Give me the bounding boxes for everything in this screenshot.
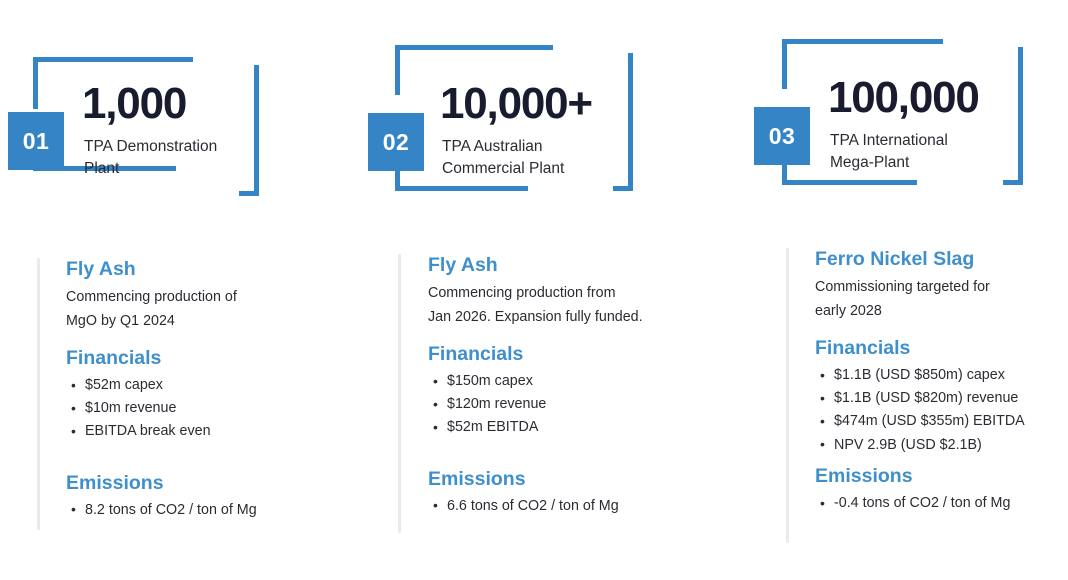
spacer (815, 457, 1068, 465)
bracket-top-3 (782, 39, 943, 44)
detail-column-2: Fly Ash Commencing production from Jan 2… (398, 254, 768, 539)
list-item: $1.1B (USD $820m) revenue (815, 387, 1068, 410)
list-item: 8.2 tons of CO2 / ton of Mg (66, 499, 396, 522)
spacer (428, 329, 768, 343)
emissions-list-3: -0.4 tons of CO2 / ton of Mg (815, 492, 1068, 515)
milestone-badge-1: 01 (8, 112, 64, 170)
list-item: $474m (USD $355m) EBITDA (815, 410, 1068, 433)
milestone-badge-3: 03 (754, 107, 810, 165)
milestone-number-2: 10,000+ (440, 82, 592, 126)
feedstock-title-1: Fly Ash (66, 258, 396, 281)
milestone-number-3: 100,000 (828, 76, 979, 120)
emissions-list-1: 8.2 tons of CO2 / ton of Mg (66, 499, 396, 522)
detail-column-3: Ferro Nickel Slag Commissioning targeted… (786, 248, 1068, 548)
bracket-top-1 (33, 57, 193, 62)
bracket-left-lower-2 (395, 170, 400, 191)
milestone-subtitle-1: TPA Demonstration Plant (84, 136, 284, 180)
column-divider-1 (37, 258, 40, 530)
detail-column-1: Fly Ash Commencing production of MgO by … (37, 258, 397, 538)
list-item: NPV 2.9B (USD $2.1B) (815, 434, 1068, 457)
spacer (66, 444, 396, 472)
list-item: $52m EBITDA (428, 416, 768, 439)
list-item: $10m revenue (66, 397, 396, 420)
bracket-top-2 (395, 45, 553, 50)
list-item: 6.6 tons of CO2 / ton of Mg (428, 495, 768, 518)
list-item: -0.4 tons of CO2 / ton of Mg (815, 492, 1068, 515)
milestone-card-3: 03 100,000 TPA International Mega-Plant (745, 28, 1055, 198)
bracket-bottom-right-1 (239, 191, 259, 196)
list-item: $52m capex (66, 374, 396, 397)
feedstock-text-3: Commissioning targeted for early 2028 (815, 276, 1068, 322)
bracket-bottom-left-3 (782, 180, 917, 185)
bracket-left-1 (33, 57, 38, 109)
column-divider-2 (398, 254, 401, 533)
milestone-subtitle-2: TPA Australian Commercial Plant (442, 136, 657, 180)
feedstock-title-2: Fly Ash (428, 254, 768, 277)
financials-list-3: $1.1B (USD $850m) capex $1.1B (USD $820m… (815, 364, 1068, 457)
milestone-card-2: 02 10,000+ TPA Australian Commercial Pla… (360, 34, 660, 204)
detail-column-1-content: Fly Ash Commencing production of MgO by … (66, 258, 396, 522)
emissions-list-2: 6.6 tons of CO2 / ton of Mg (428, 495, 768, 518)
financials-title-3: Financials (815, 337, 1068, 360)
column-divider-3 (786, 248, 789, 543)
financials-list-1: $52m capex $10m revenue EBITDA break eve… (66, 374, 396, 443)
spacer (66, 333, 396, 347)
financials-title-1: Financials (66, 347, 396, 370)
list-item: EBITDA break even (66, 420, 396, 443)
milestone-number-1: 1,000 (82, 82, 186, 126)
spacer (428, 440, 768, 468)
list-item: $120m revenue (428, 393, 768, 416)
emissions-title-1: Emissions (66, 472, 396, 495)
bracket-bottom-right-3 (1003, 180, 1023, 185)
financials-list-2: $150m capex $120m revenue $52m EBITDA (428, 370, 768, 439)
feedstock-title-3: Ferro Nickel Slag (815, 248, 1068, 271)
emissions-title-3: Emissions (815, 465, 1068, 488)
spacer (815, 323, 1068, 337)
milestone-card-1: 01 1,000 TPA Demonstration Plant (0, 40, 300, 210)
detail-column-2-content: Fly Ash Commencing production from Jan 2… (428, 254, 768, 518)
list-item: $150m capex (428, 370, 768, 393)
bracket-bottom-left-2 (395, 186, 528, 191)
bracket-left-3 (782, 39, 787, 89)
milestone-badge-2: 02 (368, 113, 424, 171)
detail-column-3-content: Ferro Nickel Slag Commissioning targeted… (815, 248, 1068, 515)
emissions-title-2: Emissions (428, 468, 768, 491)
list-item: $1.1B (USD $850m) capex (815, 364, 1068, 387)
feedstock-text-2: Commencing production from Jan 2026. Exp… (428, 282, 768, 328)
bracket-bottom-right-2 (613, 186, 633, 191)
infographic-root: 01 1,000 TPA Demonstration Plant 02 10,0… (0, 0, 1068, 580)
financials-title-2: Financials (428, 343, 768, 366)
bracket-left-lower-3 (782, 164, 787, 185)
feedstock-text-1: Commencing production of MgO by Q1 2024 (66, 286, 396, 332)
milestone-subtitle-3: TPA International Mega-Plant (830, 130, 1045, 174)
bracket-left-2 (395, 45, 400, 95)
